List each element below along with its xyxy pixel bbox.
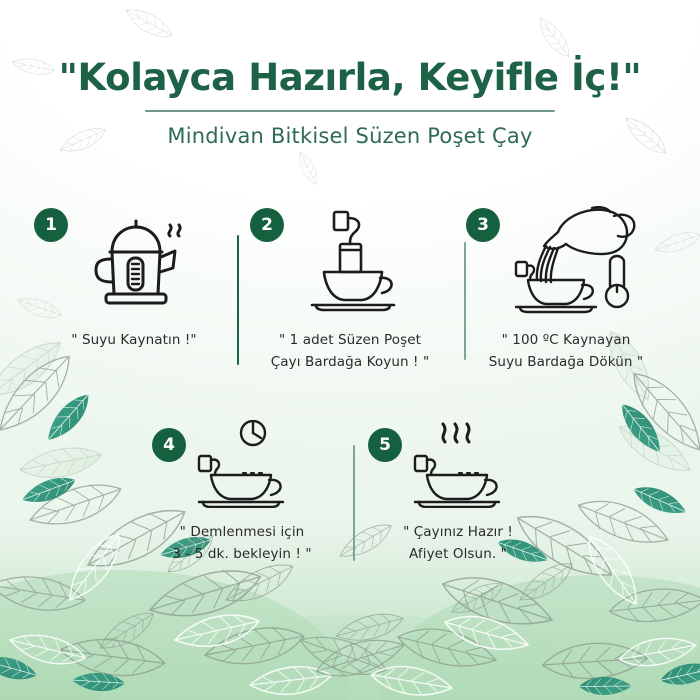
step-4: 4 — [134, 424, 350, 566]
step-caption-3: " 100 ºC Kaynayan Suyu Bardağa Dökün " — [489, 330, 643, 374]
step-1: 1 — [26, 206, 242, 374]
step-number-badge-3: 3 — [466, 208, 500, 242]
cup-with-timer-icon — [179, 420, 305, 508]
title-underline — [145, 110, 555, 112]
step-5: 5 — [350, 424, 566, 566]
header: "Kolayca Hazırla, Keyifle İç!" Mindivan … — [0, 58, 700, 148]
step-3: 3 — [458, 206, 674, 374]
page-title: "Kolayca Hazırla, Keyifle İç!" — [0, 58, 700, 99]
step-number-badge-2: 2 — [250, 208, 284, 242]
infographic-canvas: "Kolayca Hazırla, Keyifle İç!" Mindivan … — [0, 0, 700, 700]
step-caption-2: " 1 adet Süzen Poşet Çayı Bardağa Koyun … — [271, 330, 430, 374]
step-caption-4-line-2: 3 - 5 dk. bekleyin ! " — [172, 544, 311, 566]
page-subtitle: Mindivan Bitkisel Süzen Poşet Çay — [0, 124, 700, 148]
step-number-badge-5: 5 — [368, 428, 402, 462]
step-caption-4: " Demlenmesi için 3 - 5 dk. bekleyin ! " — [172, 522, 311, 566]
step-number-badge-1: 1 — [34, 208, 68, 242]
step-caption-2-line-2: Çayı Bardağa Koyun ! " — [271, 352, 430, 374]
steps-row-bottom: 4 — [0, 424, 700, 566]
step-number-badge-4: 4 — [152, 428, 186, 462]
step-caption-1: " Suyu Kaynatın !" — [71, 330, 196, 352]
step-caption-3-line-2: Suyu Bardağa Dökün " — [489, 352, 643, 374]
teapot-pouring-into-cup-icon — [496, 206, 636, 314]
steaming-cup-icon — [395, 420, 521, 508]
step-caption-4-line-1: " Demlenmesi için — [172, 522, 311, 544]
step-caption-3-line-1: " 100 ºC Kaynayan — [489, 330, 643, 352]
step-caption-1-line-1: " Suyu Kaynatın !" — [71, 330, 196, 352]
step-caption-5: " Çayınız Hazır ! Afiyet Olsun. " — [403, 522, 513, 566]
electric-kettle-icon — [78, 210, 190, 314]
steps-row-top: 1 — [0, 206, 700, 374]
step-caption-5-line-1: " Çayınız Hazır ! — [403, 522, 513, 544]
tea-bag-into-cup-icon — [290, 206, 410, 314]
step-2: 2 " 1 adet Süzen Poşet — [242, 206, 458, 374]
step-caption-2-line-1: " 1 adet Süzen Poşet — [271, 330, 430, 352]
step-caption-5-line-2: Afiyet Olsun. " — [403, 544, 513, 566]
